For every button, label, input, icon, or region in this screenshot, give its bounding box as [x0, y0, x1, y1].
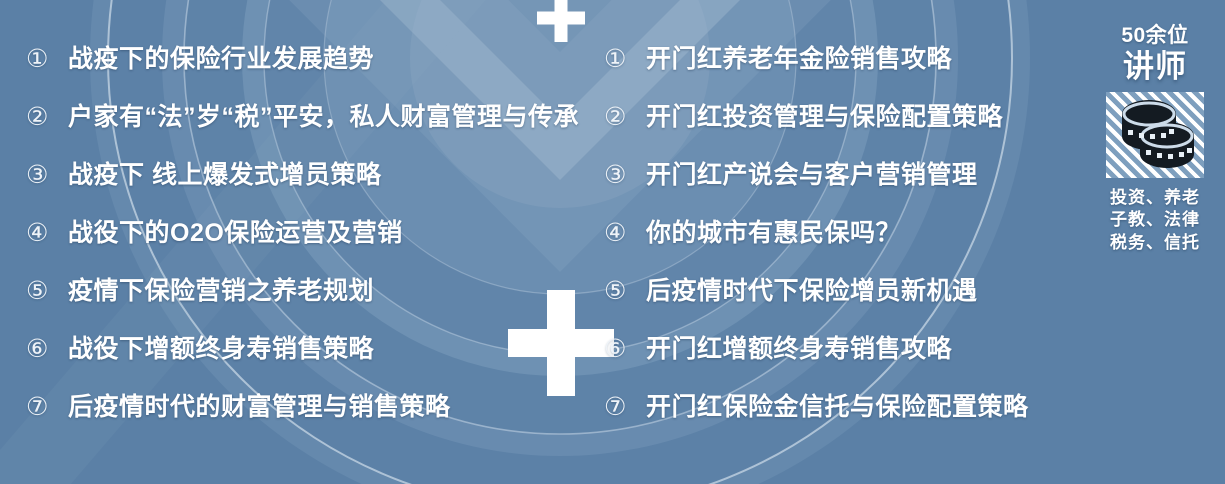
lecturer-tag: 子教、法律	[1085, 209, 1225, 232]
list-item-label: 疫情下保险营销之养老规划	[68, 279, 374, 304]
list-item-number: ⑦	[26, 394, 68, 419]
topic-columns: ① 战疫下的保险行业发展趋势 ② 户家有“法”岁“税”平安，私人财富管理与传承 …	[0, 0, 1080, 484]
list-item-label: 后疫情时代下保险增员新机遇	[646, 279, 978, 304]
list-item[interactable]: ⑤ 后疫情时代下保险增员新机遇	[604, 278, 1074, 336]
coins-icon	[1106, 92, 1204, 178]
list-item[interactable]: ③ 开门红产说会与客户营销管理	[604, 162, 1074, 220]
list-item[interactable]: ③ 战疫下 线上爆发式增员策略	[26, 162, 586, 220]
list-item[interactable]: ① 战疫下的保险行业发展趋势	[26, 46, 586, 104]
list-item-label: 战疫下 线上爆发式增员策略	[68, 163, 381, 188]
list-item-number: ③	[26, 162, 68, 187]
list-item[interactable]: ⑦ 后疫情时代的财富管理与销售策略	[26, 394, 586, 452]
list-item-number: ⑦	[604, 394, 646, 419]
list-item-number: ①	[26, 46, 68, 71]
list-item-number: ④	[26, 220, 68, 245]
list-item-label: 开门红增额终身寿销售攻略	[646, 337, 952, 362]
lecturer-tag: 税务、信托	[1085, 232, 1225, 255]
list-item-label: 开门红投资管理与保险配置策略	[646, 105, 1003, 130]
list-item-label: 后疫情时代的财富管理与销售策略	[68, 395, 451, 420]
list-item-number: ③	[604, 162, 646, 187]
list-item[interactable]: ② 户家有“法”岁“税”平安，私人财富管理与传承	[26, 104, 586, 162]
list-item-number: ⑤	[604, 278, 646, 303]
list-item-label: 开门红保险金信托与保险配置策略	[646, 395, 1029, 420]
list-item[interactable]: ④ 你的城市有惠民保吗？	[604, 220, 1074, 278]
slide-canvas: ① 战疫下的保险行业发展趋势 ② 户家有“法”岁“税”平安，私人财富管理与传承 …	[0, 0, 1225, 484]
list-item[interactable]: ① 开门红养老年金险销售攻略	[604, 46, 1074, 104]
topic-list-right: ① 开门红养老年金险销售攻略 ② 开门红投资管理与保险配置策略 ③ 开门红产说会…	[604, 46, 1074, 452]
list-item-label: 户家有“法”岁“税”平安，私人财富管理与传承	[68, 105, 579, 130]
list-item[interactable]: ⑥ 开门红增额终身寿销售攻略	[604, 336, 1074, 394]
list-item[interactable]: ② 开门红投资管理与保险配置策略	[604, 104, 1074, 162]
list-item-number: ⑥	[26, 336, 68, 361]
list-item-label: 战役下增额终身寿销售策略	[68, 337, 374, 362]
list-item-number: ①	[604, 46, 646, 71]
lecturer-panel: 50余位 讲师	[1085, 24, 1225, 294]
topic-list-left: ① 战疫下的保险行业发展趋势 ② 户家有“法”岁“税”平安，私人财富管理与传承 …	[26, 46, 586, 452]
list-item-number: ②	[604, 104, 646, 129]
list-item[interactable]: ⑥ 战役下增额终身寿销售策略	[26, 336, 586, 394]
list-item[interactable]: ⑦ 开门红保险金信托与保险配置策略	[604, 394, 1074, 452]
list-item-number: ②	[26, 104, 68, 129]
list-item-label: 战役下的O2O保险运营及营销	[68, 221, 403, 246]
list-item-number: ⑤	[26, 278, 68, 303]
list-item-label: 战疫下的保险行业发展趋势	[68, 47, 374, 72]
list-item-number: ⑥	[604, 336, 646, 361]
list-item-number: ④	[604, 220, 646, 245]
lecturer-tag: 投资、养老	[1085, 187, 1225, 210]
list-item-label: 你的城市有惠民保吗？	[646, 221, 901, 246]
list-item[interactable]: ④ 战役下的O2O保险运营及营销	[26, 220, 586, 278]
lecturer-tags: 投资、养老 子教、法律 税务、信托	[1085, 187, 1225, 255]
list-item-label: 开门红养老年金险销售攻略	[646, 47, 952, 72]
list-item[interactable]: ⑤ 疫情下保险营销之养老规划	[26, 278, 586, 336]
lecturer-count: 50余位	[1085, 24, 1225, 47]
lecturer-title: 讲师	[1085, 49, 1225, 85]
list-item-label: 开门红产说会与客户营销管理	[646, 163, 978, 188]
